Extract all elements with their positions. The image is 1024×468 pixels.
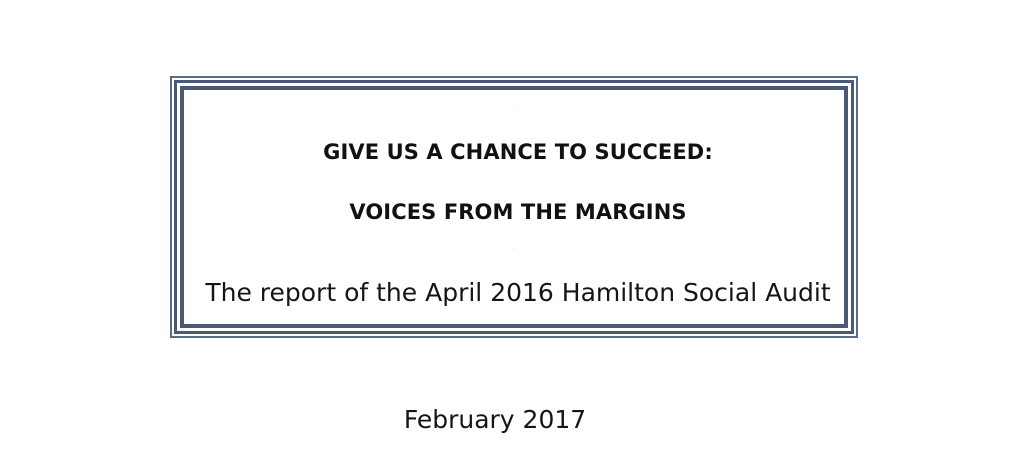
empty-paragraph-mark-middle: · (188, 244, 840, 255)
report-title-line-1: GIVE US A CHANCE TO SUCCEED: (188, 139, 840, 165)
report-subtitle: The report of the April 2016 Hamilton So… (188, 277, 840, 309)
title-border-box: · GIVE US A CHANCE TO SUCCEED: VOICES FR… (170, 76, 858, 338)
title-border-middle-line: · GIVE US A CHANCE TO SUCCEED: VOICES FR… (174, 80, 854, 334)
title-box-content: · GIVE US A CHANCE TO SUCCEED: VOICES FR… (188, 94, 840, 320)
title-border-inner-line: · GIVE US A CHANCE TO SUCCEED: VOICES FR… (180, 86, 848, 328)
report-title-line-2: VOICES FROM THE MARGINS (188, 199, 840, 225)
page-canvas: · GIVE US A CHANCE TO SUCCEED: VOICES FR… (0, 0, 1024, 468)
empty-paragraph-mark-top: · (188, 104, 840, 115)
publication-date: February 2017 (0, 404, 990, 436)
